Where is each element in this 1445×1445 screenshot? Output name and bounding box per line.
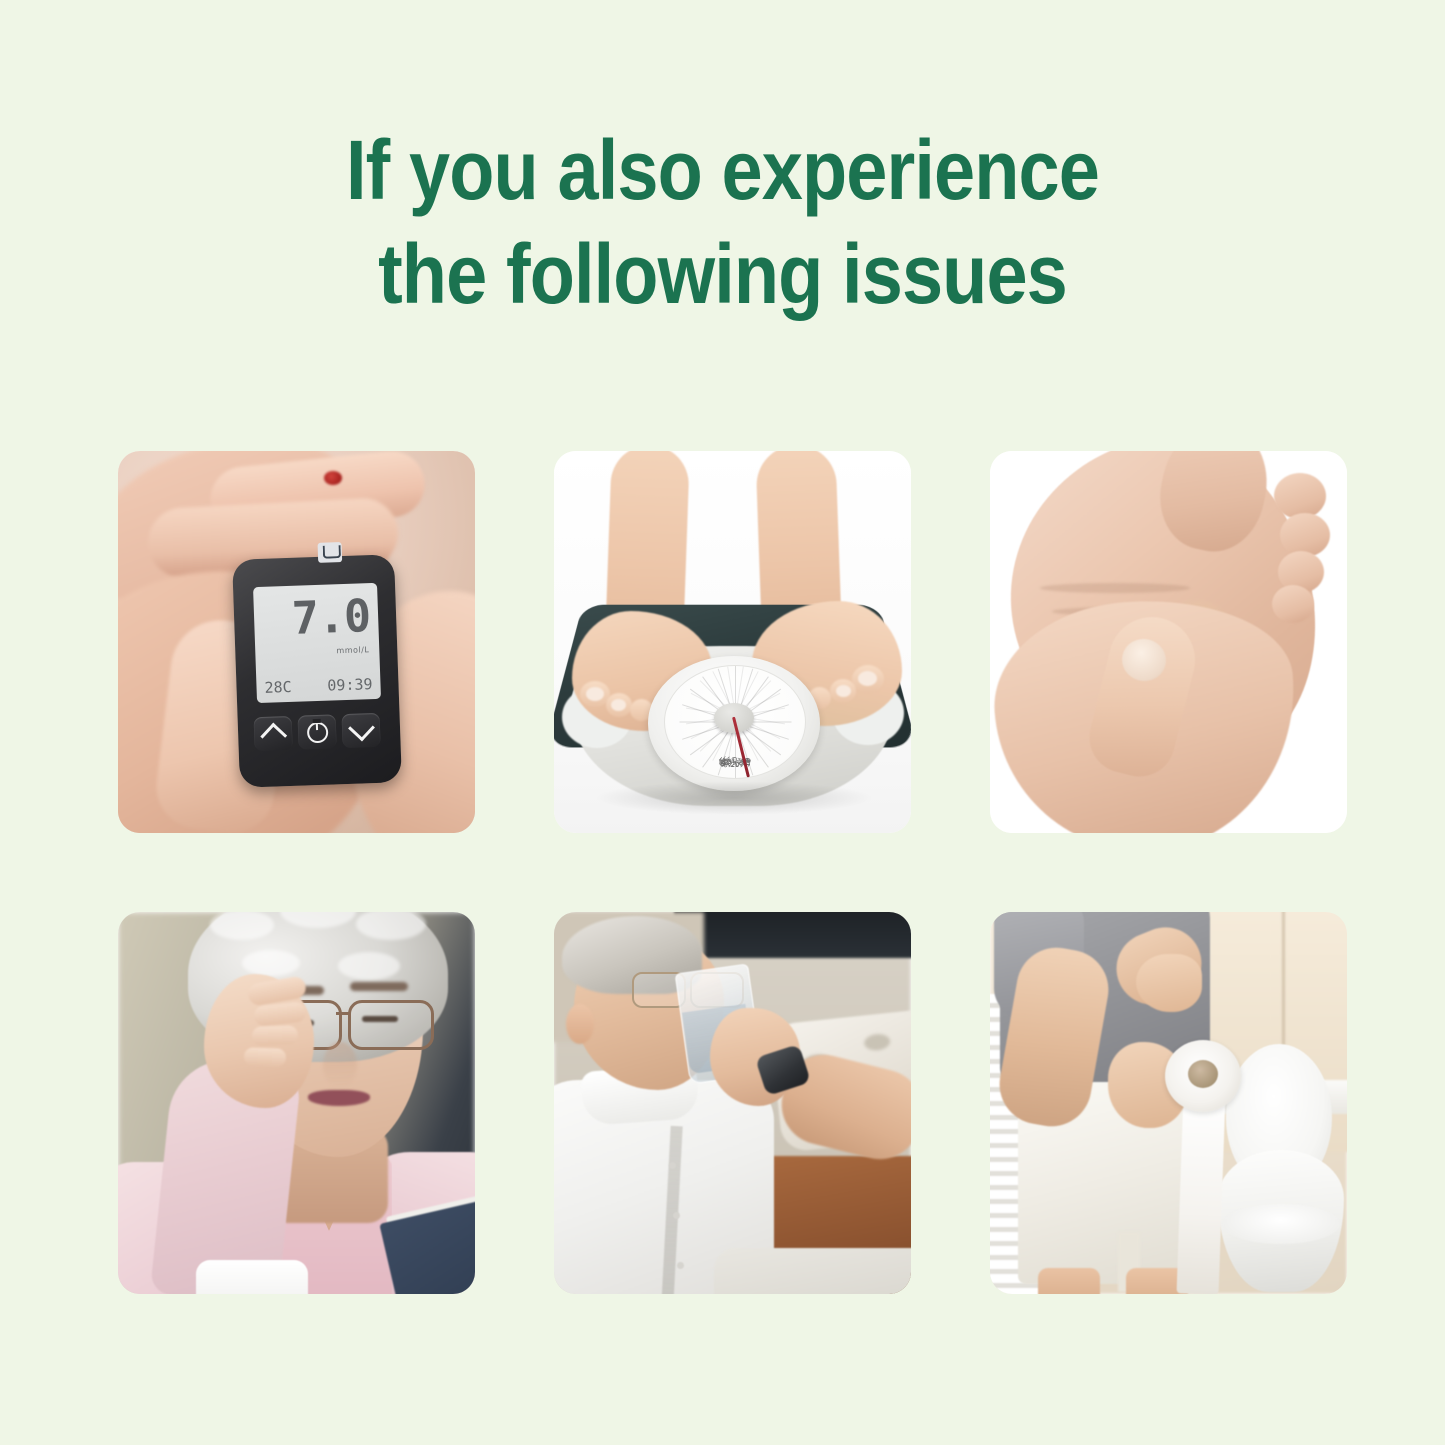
- promo-graphic: If you also experience the following iss…: [0, 0, 1445, 1445]
- nose: [323, 1042, 357, 1088]
- photo-excessive-thirst: [554, 912, 911, 1294]
- glucose-meter-device: 7.0 mmol/L 28C 09:39: [232, 554, 402, 788]
- symptom-image-grid: 7.0 mmol/L 28C 09:39: [118, 451, 1348, 1294]
- right-eyebrow: [350, 982, 408, 991]
- power-icon: [306, 721, 328, 743]
- mouth: [308, 1090, 370, 1106]
- glucose-reading-value: 7.0: [291, 593, 371, 641]
- meter-down-button[interactable]: [342, 713, 381, 748]
- lesser-toes: [1230, 473, 1335, 623]
- photo-frequent-urination: [990, 912, 1347, 1294]
- coffee-mug: [196, 1260, 308, 1294]
- tile-blurred-vision: [118, 912, 475, 1294]
- right-eye: [362, 1016, 398, 1022]
- hand-adjusting-glasses: [204, 974, 314, 1108]
- dark-wall-band: [674, 912, 911, 958]
- blood-drop-icon: [324, 471, 342, 485]
- toilet-rim: [1222, 1204, 1340, 1244]
- tile-foot-pain: [990, 451, 1347, 833]
- tile-frequent-urination: [990, 912, 1347, 1294]
- ear: [566, 1004, 594, 1044]
- page-title-line-1: If you also experience: [87, 118, 1359, 222]
- tile-excessive-thirst: [554, 912, 911, 1294]
- meter-power-button[interactable]: [298, 714, 337, 749]
- toilet-paper-sheet: [1177, 1093, 1226, 1294]
- meter-lcd-screen: 7.0 mmol/L 28C 09:39: [253, 583, 381, 703]
- page-title: If you also experience the following iss…: [87, 118, 1359, 326]
- photo-blurred-vision: [118, 912, 475, 1294]
- meter-temperature: 28C: [264, 678, 292, 697]
- page-title-line-2: the following issues: [87, 222, 1359, 326]
- hand-on-abdomen: [1136, 954, 1202, 1012]
- photo-blood-glucose-meter: 7.0 mmol/L 28C 09:39: [118, 451, 475, 833]
- scale-shadow: [594, 781, 874, 815]
- glasses-lens-right: [348, 1000, 434, 1050]
- tile-blood-glucose-meter: 7.0 mmol/L 28C 09:39: [118, 451, 475, 833]
- left-leg: [1038, 1268, 1100, 1294]
- chevron-down-icon: [348, 715, 375, 742]
- trousers: [714, 1248, 911, 1294]
- glucose-reading-unit: mmol/L: [336, 645, 369, 655]
- tile-bathroom-scale: 02468101214161820222426283032343638: [554, 451, 911, 833]
- toilet-paper-roll-core: [1188, 1060, 1218, 1088]
- meter-time: 09:39: [327, 675, 373, 695]
- photo-foot-pain: [990, 451, 1347, 833]
- chevron-up-icon: [260, 723, 287, 750]
- test-strip-icon: [318, 542, 343, 563]
- meter-up-button[interactable]: [254, 716, 293, 751]
- photo-bathroom-scale: 02468101214161820222426283032343638: [554, 451, 911, 833]
